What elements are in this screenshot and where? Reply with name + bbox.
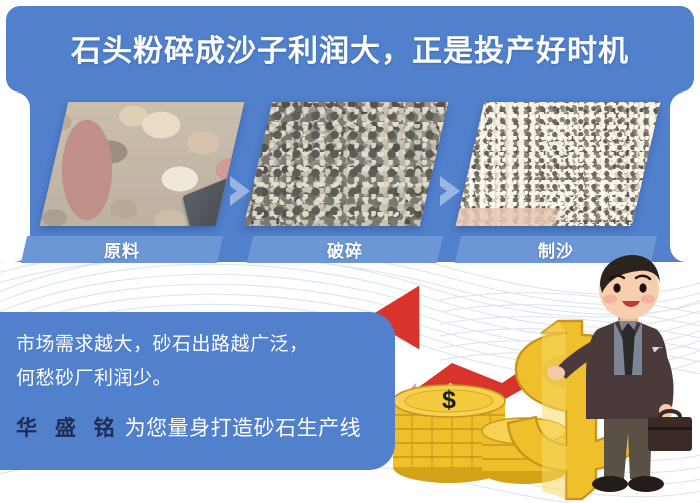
copy-line-2: 何愁砂厂利润少。 — [16, 363, 172, 390]
process-photo-crushed — [244, 102, 449, 226]
chevron-right-icon — [436, 174, 466, 208]
process-photo-raw-material — [40, 102, 245, 226]
process-label-text: 原料 — [104, 237, 140, 262]
gravel-texture — [244, 102, 449, 226]
coin-dollar-glyph: $ — [442, 386, 456, 414]
band-notch-left — [0, 92, 30, 262]
header-banner: 石头粉碎成沙子利润大，正是投产好时机 — [6, 6, 694, 92]
brand-tagline-line: 华 盛 铭为您量身打造砂石生产线 — [16, 412, 361, 442]
process-photo-sand — [456, 102, 661, 226]
brand-tagline: 为您量身打造砂石生产线 — [125, 417, 362, 440]
page-title: 石头粉碎成沙子利润大，正是投产好时机 — [6, 26, 694, 70]
poster-root: 石头粉碎成沙子利润大，正是投产好时机 原料 破碎 制沙 — [0, 0, 700, 503]
copy-panel: 市场需求越大，砂石出路越广泛， 何愁砂厂利润少。 华 盛 铭为您量身打造砂石生产… — [0, 312, 395, 470]
hand-holding-sand — [456, 208, 562, 226]
band-notch-right — [670, 92, 700, 262]
process-label-raw-material: 原料 — [21, 236, 223, 263]
chevron-right-icon — [226, 174, 256, 208]
copy-line-1: 市场需求越大，砂石出路越广泛， — [16, 329, 309, 356]
profit-illustration: $ $ — [352, 255, 700, 503]
brand-name: 华 盛 铭 — [16, 417, 121, 440]
